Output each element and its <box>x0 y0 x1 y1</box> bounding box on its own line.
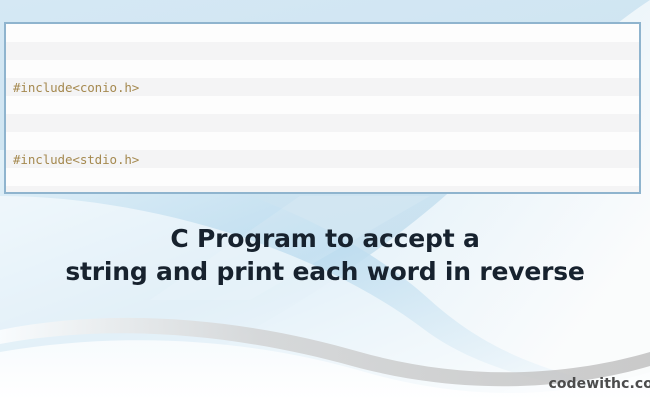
code-lines: #include<conio.h> #include<stdio.h> main… <box>6 24 639 194</box>
title-line-2: string and print each word in reverse <box>0 255 650 288</box>
page-title: C Program to accept a string and print e… <box>0 222 650 288</box>
code-snippet-box: #include<conio.h> #include<stdio.h> main… <box>4 22 641 194</box>
slide-canvas: #include<conio.h> #include<stdio.h> main… <box>0 0 650 400</box>
token-include-conio: #include<conio.h> <box>13 80 139 95</box>
site-watermark: codewithc.co <box>548 376 650 392</box>
code-line-2: #include<stdio.h> <box>13 151 639 169</box>
title-line-1: C Program to accept a <box>0 222 650 255</box>
code-line-1: #include<conio.h> <box>13 79 639 97</box>
token-include-stdio: #include<stdio.h> <box>13 152 139 167</box>
